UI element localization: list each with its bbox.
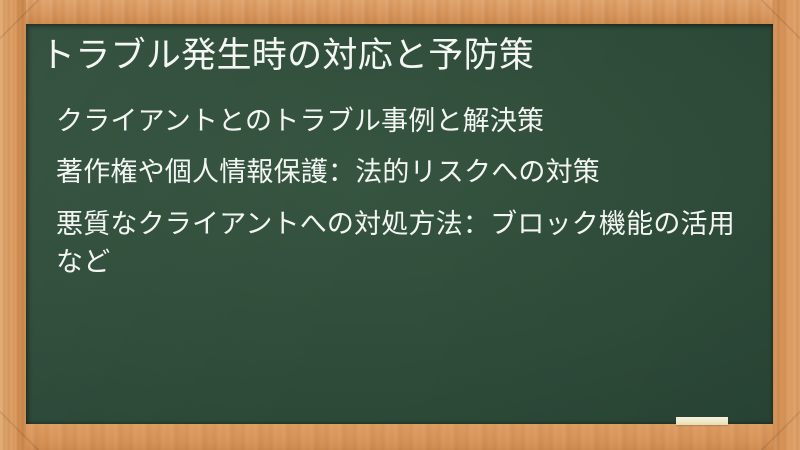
- list-item: クライアントとのトラブル事例と解決策: [56, 102, 737, 140]
- list-item: 悪質なクライアントへの対処方法：ブロック機能の活用など: [56, 205, 737, 282]
- frame-top-rail: [0, 0, 800, 24]
- slide-content: トラブル発生時の対応と予防策 クライアントとのトラブル事例と解決策 著作権や個人…: [26, 24, 773, 424]
- chalk-stick-icon: [676, 417, 728, 425]
- page-title: トラブル発生時の対応と予防策: [40, 35, 753, 78]
- frame-left-rail: [0, 0, 26, 450]
- frame-right-rail: [773, 0, 800, 450]
- blackboard-slide: トラブル発生時の対応と予防策 クライアントとのトラブル事例と解決策 著作権や個人…: [0, 0, 800, 450]
- chalkboard-surface: トラブル発生時の対応と予防策 クライアントとのトラブル事例と解決策 著作権や個人…: [26, 24, 773, 424]
- list-item: 著作権や個人情報保護：法的リスクへの対策: [56, 153, 737, 191]
- bullet-list: クライアントとのトラブル事例と解決策 著作権や個人情報保護：法的リスクへの対策 …: [56, 102, 737, 294]
- frame-bottom-rail: [0, 424, 800, 450]
